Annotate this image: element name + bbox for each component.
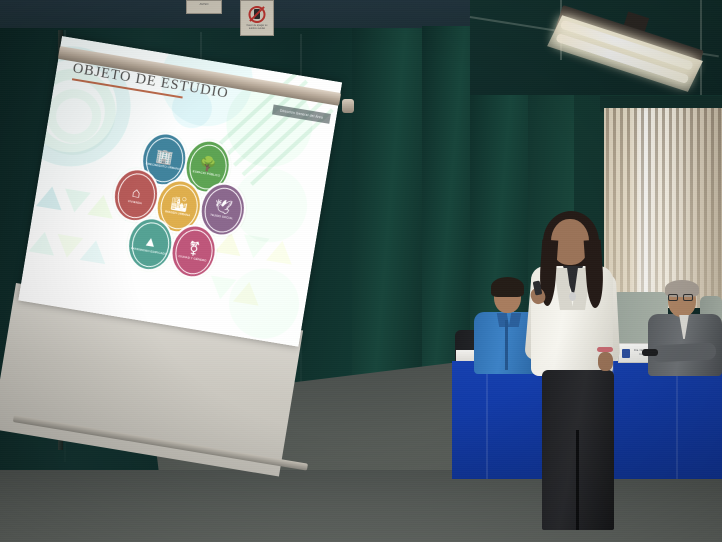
- ceiling-grid-line: [700, 0, 702, 95]
- deco-triangle: [266, 239, 295, 265]
- building-icon: 🏢: [155, 148, 174, 165]
- tree-icon: 🌳: [198, 156, 217, 173]
- deco-triangle: [240, 234, 269, 260]
- no-phone-sign-text: Favor de apagar su teléfono celular: [243, 24, 271, 33]
- projection-screen-case-end: [342, 99, 354, 113]
- eyeglasses-icon: [683, 294, 693, 301]
- dove-icon: 🕊: [213, 199, 233, 216]
- pyramid-icon: ▲: [143, 233, 159, 249]
- deco-triangle: [28, 230, 57, 256]
- window-blinds: [604, 108, 722, 308]
- leg-separation: [576, 430, 579, 530]
- cityscape-icon: 🏙: [169, 195, 189, 212]
- bracelet: [597, 347, 613, 352]
- eyeglasses-icon: [668, 294, 678, 301]
- necklace-pendant: [569, 292, 576, 301]
- institution-logo-icon: [622, 349, 630, 358]
- shirt-placket: [505, 320, 508, 370]
- microphone: [642, 349, 658, 356]
- gender-symbols-icon: ⚧: [187, 241, 201, 257]
- deco-triangle: [36, 184, 65, 210]
- deco-triangle: [62, 189, 91, 215]
- slide-canvas: OBJETO DE ESTUDIO Universidad Dirección …: [18, 36, 342, 347]
- concept-icon-cluster: 🏢 CRECIMIENTO URBANO 🌳 ESPACIO PÚBLICO ⌂…: [102, 126, 255, 295]
- deco-circle: [224, 263, 304, 343]
- wall-sign-left-text: AVISO: [189, 3, 219, 12]
- no-phone-sign: Favor de apagar su teléfono celular: [240, 0, 274, 36]
- deco-triangle: [233, 280, 262, 306]
- projected-slide: OBJETO DE ESTUDIO Universidad Dirección …: [18, 36, 342, 347]
- crossed-arms: [652, 342, 717, 362]
- wall-sign-left: AVISO: [186, 0, 222, 14]
- deco-triangle: [54, 234, 83, 260]
- right-hand: [598, 352, 613, 371]
- hair: [491, 277, 524, 297]
- conference-room-photo: AVISO Favor de apagar su teléfono celula…: [0, 0, 722, 542]
